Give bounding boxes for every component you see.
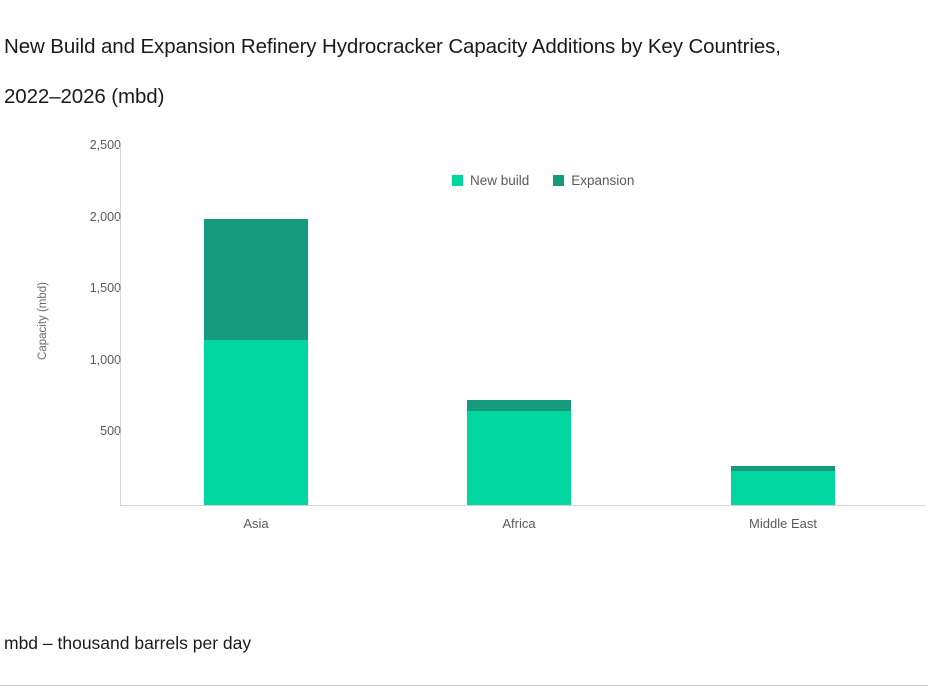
legend-label-expansion: Expansion — [571, 173, 634, 188]
y-axis-tick: 500 — [45, 433, 121, 434]
y-axis-tick-label: 1,500 — [59, 281, 121, 295]
y-axis-tick: 2,000 — [45, 219, 121, 220]
y-axis-tick-label: 2,000 — [59, 210, 121, 224]
y-axis-tick-label: 2,500 — [59, 138, 121, 152]
page-title-line-1: New Build and Expansion Refinery Hydrocr… — [4, 22, 928, 72]
page-title-line-2: 2022–2026 (mbd) — [4, 72, 928, 122]
chart-legend: New build Expansion — [452, 173, 634, 188]
y-axis-title: Capacity (mbd) — [37, 261, 49, 381]
bar-segment-new-build[interactable] — [731, 471, 835, 505]
x-axis-label-asia: Asia — [166, 516, 346, 531]
legend-label-new-build: New build — [470, 173, 529, 188]
bottom-divider — [0, 685, 928, 686]
y-axis-tick-label: 500 — [59, 424, 121, 438]
legend-swatch-expansion — [553, 175, 564, 186]
bar-segment-expansion[interactable] — [467, 400, 571, 411]
y-axis-tick: 1,500 — [45, 290, 121, 291]
page-title: New Build and Expansion Refinery Hydrocr… — [4, 22, 928, 122]
bar-group-africa[interactable] — [467, 400, 571, 505]
y-axis-tick: 1,000 — [45, 362, 121, 363]
y-axis-tick-label: 1,000 — [59, 353, 121, 367]
legend-item-new-build[interactable]: New build — [452, 173, 529, 188]
legend-item-expansion[interactable]: Expansion — [553, 173, 634, 188]
x-axis-label-africa: Africa — [429, 516, 609, 531]
bar-group-middle-east[interactable] — [731, 466, 835, 505]
bar-group-asia[interactable] — [204, 219, 308, 505]
footnote: mbd – thousand barrels per day — [4, 633, 251, 654]
bar-segment-expansion[interactable] — [204, 219, 308, 341]
x-axis-label-middle-east: Middle East — [693, 516, 873, 531]
bar-chart: Capacity (mbd) 2,5002,0001,5001,000500 A… — [0, 125, 928, 550]
legend-swatch-new-build — [452, 175, 463, 186]
y-axis-tick: 2,500 — [45, 147, 121, 148]
bar-segment-new-build[interactable] — [204, 340, 308, 505]
bar-segment-new-build[interactable] — [467, 411, 571, 505]
